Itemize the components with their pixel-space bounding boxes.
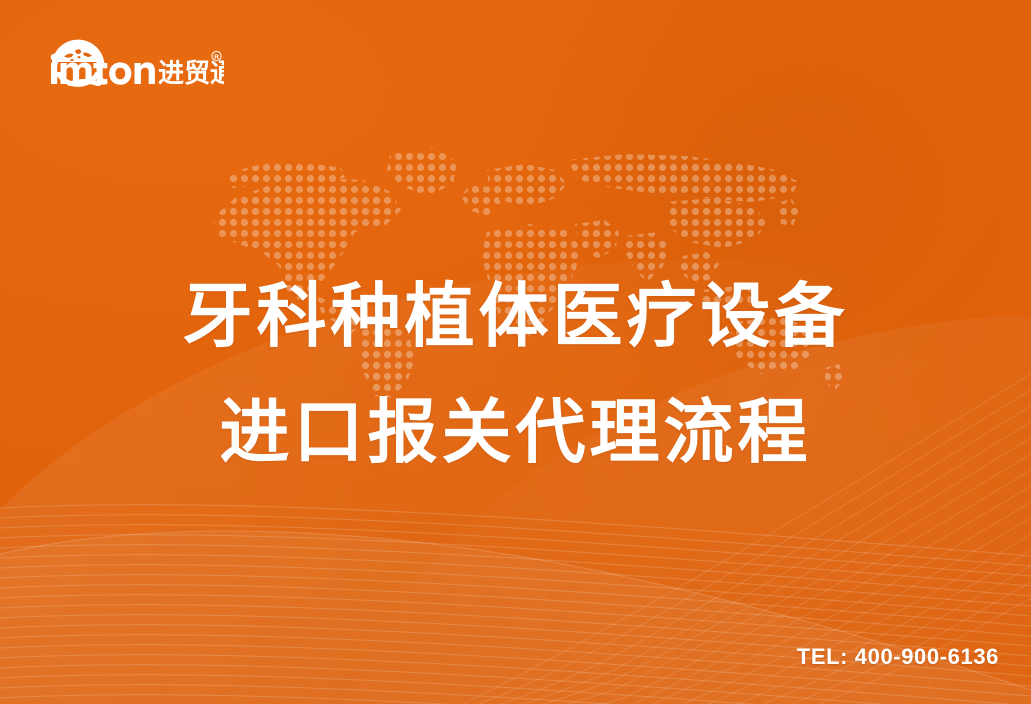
brand-logo[interactable]: 进贸通 R: [44, 34, 224, 100]
brand-chinese-text: 进贸通: [158, 58, 224, 88]
svg-text:R: R: [214, 54, 219, 61]
background-fill: [0, 0, 1031, 704]
contact-phone[interactable]: TEL: 400-900-6136: [797, 644, 999, 670]
registered-mark-icon: R: [212, 51, 221, 61]
promo-banner: 进贸通 R 牙科种植体医疗设备 进口报关代理流程 TEL: 400-900-61…: [0, 0, 1031, 704]
